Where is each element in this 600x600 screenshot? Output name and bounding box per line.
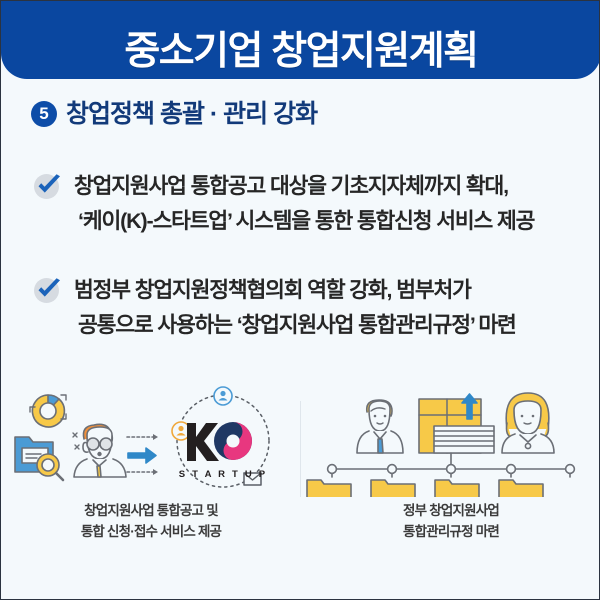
document-board-icon — [419, 394, 494, 453]
caption-line-2: 통합관리규정 마련 — [301, 522, 600, 543]
person-male-icon — [357, 400, 403, 453]
folder-icon — [435, 480, 479, 497]
bullet-line-2: ‘케이(K)-스타트업’ 시스템을 통한 통합신청 서비스 제공 — [74, 204, 534, 239]
page-title: 중소기업 창업지원계획 — [124, 32, 477, 71]
kstartup-logo: S T A R T U P — [179, 422, 268, 480]
bullet-text: 창업지원사업 통합공고 대상을 기초지자체까지 확대, ‘케이(K)-스타트업’… — [74, 169, 534, 239]
caption-line-1: 창업지원사업 통합공고 및 — [1, 501, 301, 522]
check-circle-icon — [33, 171, 63, 201]
figure-caption: 창업지원사업 통합공고 및 통합 신청·접수 서비스 제공 — [1, 501, 301, 542]
bullet-line-2: 공통으로 사용하는 ‘창업지원사업 통합관리규정’ 마련 — [74, 308, 516, 343]
caption-line-1: 정부 창업지원사업 — [301, 501, 600, 522]
section-heading: 5 창업정책 총괄 · 관리 강화 — [31, 101, 317, 127]
tree-connector — [328, 453, 575, 477]
figure-caption: 정부 창업지원사업 통합관리규정 마련 — [301, 501, 600, 542]
figure-management-rules: 정부 창업지원사업 통합관리규정 마련 — [301, 383, 600, 553]
bullet-line-1: 창업지원사업 통합공고 대상을 기초지자체까지 확대, — [74, 174, 508, 198]
folder-icon — [371, 480, 415, 497]
infographic-card: 중소기업 창업지원계획 5 창업정책 총괄 · 관리 강화 창업지원사업 통합공… — [0, 0, 600, 600]
figure-kstartup: S T A R T U P 창업지원사업 통합공고 및 통합 신청·접수 서비스… — [1, 383, 301, 553]
header-banner: 중소기업 창업지원계획 — [1, 0, 600, 79]
folder-search-icon — [15, 437, 63, 480]
kstartup-integrated-application-illustration: S T A R T U P — [1, 385, 301, 497]
government-management-rules-illustration — [301, 385, 600, 497]
arrow-group — [127, 434, 158, 475]
folder-icon — [499, 480, 543, 497]
donut-chart-icon — [30, 395, 66, 427]
check-circle-icon — [33, 275, 63, 305]
folder-icon — [307, 480, 351, 497]
illustrations-row: S T A R T U P 창업지원사업 통합공고 및 통합 신청·접수 서비스… — [1, 383, 600, 553]
section-title: 창업정책 총괄 · 관리 강화 — [66, 102, 317, 127]
bullet-item: 범정부 창업지원정책협의회 역할 강화, 범부처가 공통으로 사용하는 ‘창업지… — [33, 273, 581, 343]
person-female-icon — [502, 393, 554, 453]
bullet-text: 범정부 창업지원정책협의회 역할 강화, 범부처가 공통으로 사용하는 ‘창업지… — [74, 273, 516, 343]
user-chip-icon — [214, 387, 232, 405]
logo-subtext: S T A R T U P — [179, 469, 268, 480]
bullet-line-1: 범정부 창업지원정책협의회 역할 강화, 범부처가 — [74, 278, 471, 302]
bullet-item: 창업지원사업 통합공고 대상을 기초지자체까지 확대, ‘케이(K)-스타트업’… — [33, 169, 581, 239]
caption-line-2: 통합 신청·접수 서비스 제공 — [1, 522, 301, 543]
person-with-glasses-icon — [73, 424, 126, 477]
check-mark-icon — [33, 275, 63, 305]
section-number-badge: 5 — [31, 101, 57, 127]
check-mark-icon — [33, 171, 63, 201]
